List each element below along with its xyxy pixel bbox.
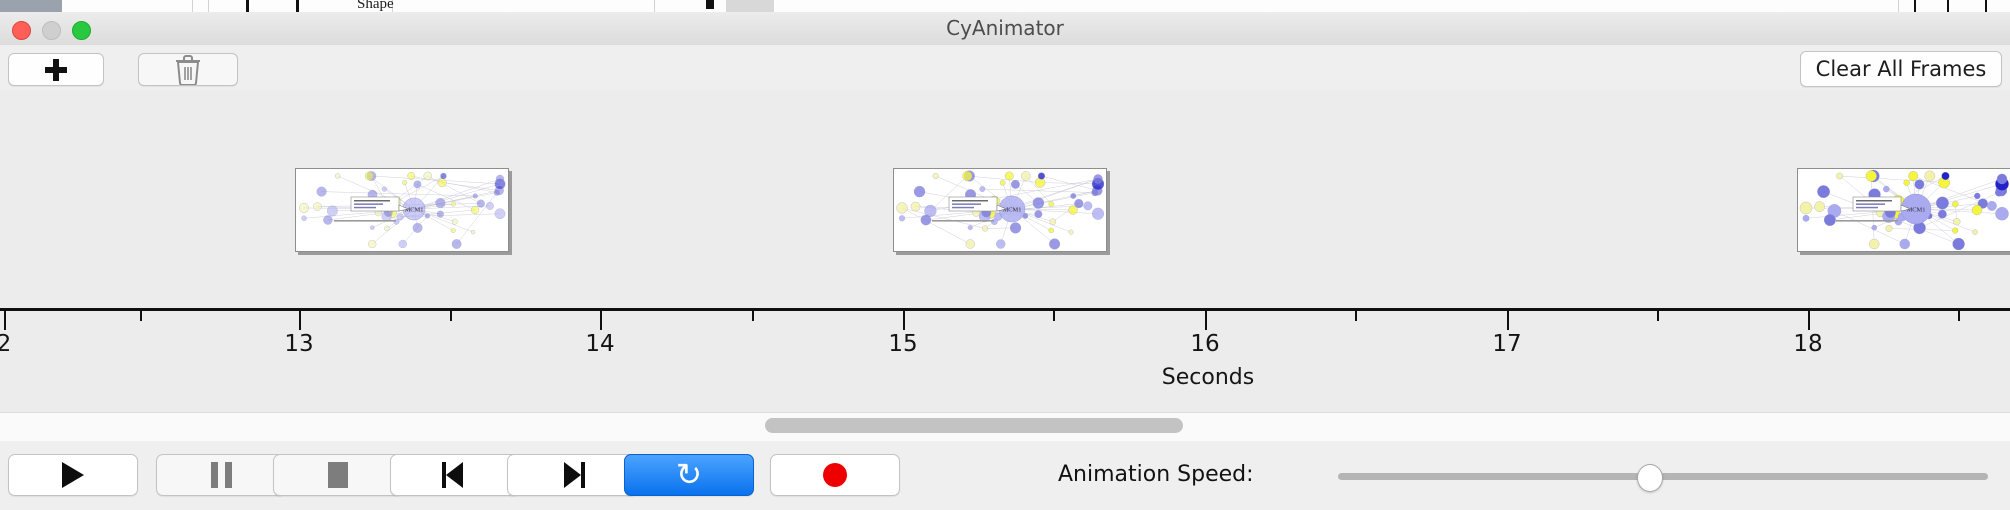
axis-tick-major [1205,311,1207,330]
axis-tick-label: 13 [284,331,313,357]
skip-back-icon [442,462,468,488]
keyframe-thumbnail[interactable]: MCM1 [893,168,1107,252]
cyanimator-window: Shape CyAnimator Clear All Frames [0,0,2010,510]
play-button[interactable] [8,454,138,496]
axis-tick-major [600,311,602,330]
axis-tick-label: 17 [1492,331,1521,357]
titlebar: CyAnimator [0,12,2010,46]
pause-button[interactable] [156,454,286,496]
axis-tick-label: 15 [888,331,917,357]
axis-tick-major [1808,311,1810,330]
playback-toolbar: ↻ Animation Speed: [0,441,2010,510]
keyframe-thumbnail[interactable]: MCM1 [295,168,509,252]
play-icon [62,462,84,488]
svg-text:MCM1: MCM1 [1003,207,1022,214]
stop-button[interactable] [273,454,403,496]
axis-title: Seconds [1162,365,1254,390]
animation-speed-label: Animation Speed: [1058,454,1254,496]
skip-forward-button[interactable] [507,454,637,496]
trash-icon [175,55,201,85]
axis-tick-major [4,311,6,330]
plus-icon [45,59,67,81]
svg-text:MCM1: MCM1 [405,207,424,214]
timeline-axis [0,308,2010,311]
axis-tick-minor [450,311,452,321]
svg-text:MCM1: MCM1 [1907,207,1926,214]
skip-back-button[interactable] [390,454,520,496]
toolbar: Clear All Frames [0,45,2010,91]
axis-tick-minor [752,311,754,321]
axis-tick-major [903,311,905,330]
axis-tick-major [299,311,301,330]
record-button[interactable] [770,454,900,496]
axis-tick-minor [1958,311,1960,321]
animation-speed-slider-track[interactable] [1338,473,1988,480]
axis-tick-label: 14 [585,331,614,357]
axis-tick-minor [1053,311,1055,321]
axis-tick-major [1507,311,1509,330]
record-icon [823,463,847,487]
axis-tick-label: 2 [0,331,11,357]
clear-all-frames-button[interactable]: Clear All Frames [1800,51,2002,87]
axis-tick-label: 16 [1190,331,1219,357]
add-frame-button[interactable] [8,53,104,86]
animation-speed-slider-thumb[interactable] [1637,464,1663,492]
loop-icon: ↻ [676,460,702,491]
skip-forward-icon [559,462,585,488]
axis-tick-minor [140,311,142,321]
stop-icon [328,462,348,488]
pause-icon [211,462,232,488]
loop-button[interactable]: ↻ [624,454,754,496]
axis-tick-label: 18 [1793,331,1822,357]
keyframe-thumbnail[interactable]: MCM1 [1797,168,2010,252]
window-title: CyAnimator [0,12,2010,45]
timeline-scrollbar-thumb[interactable] [765,418,1183,433]
axis-tick-minor [1355,311,1357,321]
delete-frame-button[interactable] [138,53,238,86]
timeline-panel[interactable]: MCM1 MCM1 MCM1 2131415161718 Seconds [0,90,2010,412]
axis-tick-minor [1657,311,1659,321]
